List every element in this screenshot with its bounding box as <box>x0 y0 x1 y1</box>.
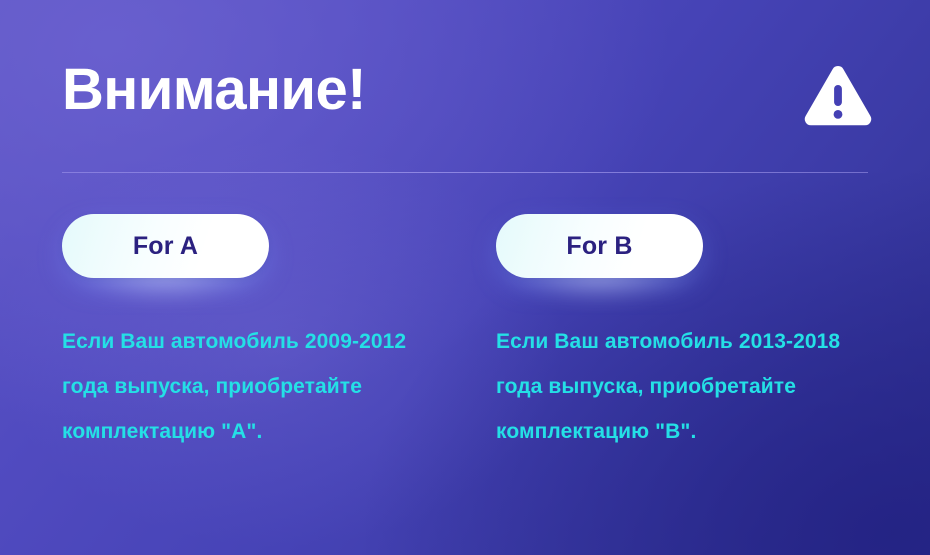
for-a-button[interactable]: For A <box>62 214 269 278</box>
header-divider <box>62 172 868 173</box>
page-title: Внимание! <box>62 56 366 124</box>
option-a-description: Если Ваш автомобиль 2009-2012 года выпус… <box>62 319 454 454</box>
for-b-button[interactable]: For B <box>496 214 703 278</box>
for-b-button-label: For B <box>566 234 632 259</box>
for-b-button-wrap: For B <box>496 214 703 278</box>
attention-banner: Внимание! For A Если Ваш автомобиль 2009… <box>0 0 930 555</box>
option-column-a: For A Если Ваш автомобиль 2009-2012 года… <box>62 214 462 278</box>
warning-triangle-icon <box>803 63 873 133</box>
option-column-b: For B Если Ваш автомобиль 2013-2018 года… <box>496 214 896 278</box>
for-a-button-wrap: For A <box>62 214 269 278</box>
option-b-description: Если Ваш автомобиль 2013-2018 года выпус… <box>496 319 888 454</box>
for-a-button-label: For A <box>133 234 198 259</box>
